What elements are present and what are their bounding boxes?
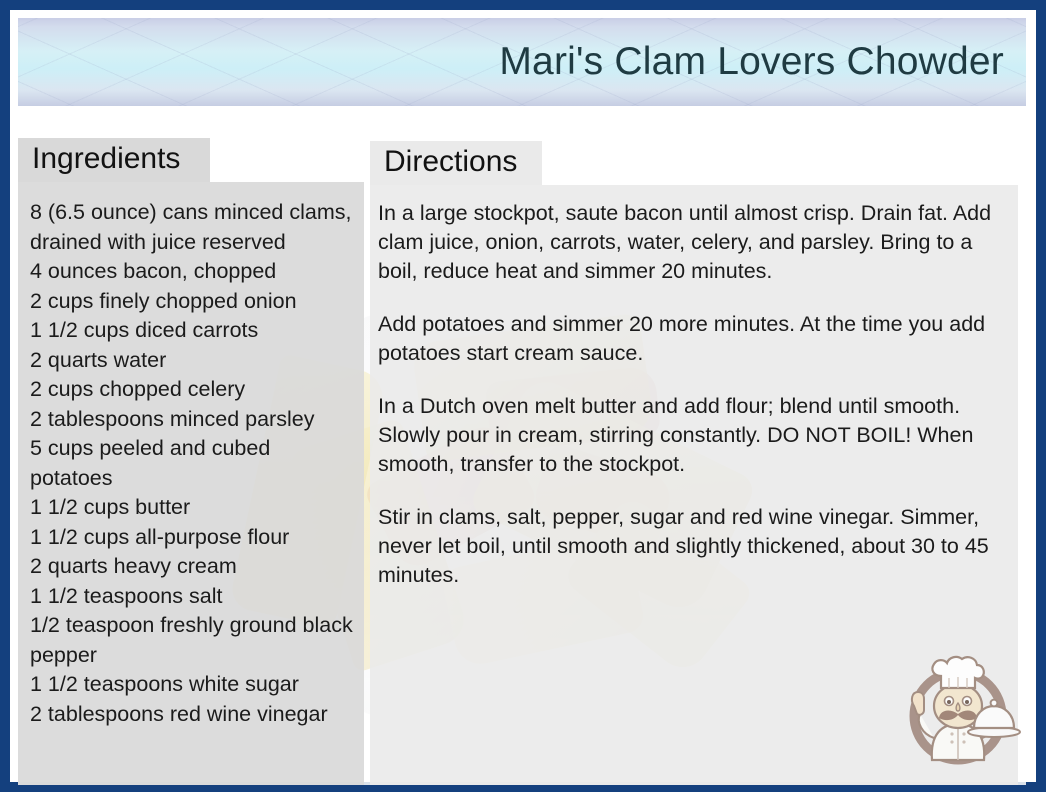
- list-item: 1/2 teaspoon freshly ground black pepper: [30, 611, 356, 670]
- list-item: 2 cups finely chopped onion: [30, 287, 356, 317]
- direction-step: Stir in clams, salt, pepper, sugar and r…: [378, 503, 1004, 590]
- list-item: 2 tablespoons red wine vinegar: [30, 700, 356, 730]
- list-item: 5 cups peeled and cubed potatoes: [30, 434, 356, 493]
- list-item: 1 1/2 teaspoons white sugar: [30, 670, 356, 700]
- recipe-card-inner: Mari's Clam Lovers Chowder Ingredients 8…: [10, 10, 1036, 782]
- direction-step: In a large stockpot, saute bacon until a…: [378, 199, 1004, 286]
- list-item: 1 1/2 cups all-purpose flour: [30, 523, 356, 553]
- list-item: 2 quarts water: [30, 346, 356, 376]
- list-item: 1 1/2 cups diced carrots: [30, 316, 356, 346]
- ingredients-heading: Ingredients: [18, 138, 210, 182]
- list-item: 2 tablespoons minced parsley: [30, 405, 356, 435]
- title-banner: Mari's Clam Lovers Chowder: [18, 18, 1026, 106]
- direction-step: In a Dutch oven melt butter and add flou…: [378, 392, 1004, 479]
- list-item: 8 (6.5 ounce) cans minced clams, drained…: [30, 198, 356, 257]
- list-item: 2 quarts heavy cream: [30, 552, 356, 582]
- ingredients-list: 8 (6.5 ounce) cans minced clams, drained…: [30, 198, 356, 729]
- direction-step: Add potatoes and simmer 20 more minutes.…: [378, 310, 1004, 368]
- list-item: 2 cups chopped celery: [30, 375, 356, 405]
- list-item: 1 1/2 cups butter: [30, 493, 356, 523]
- ingredients-panel: 8 (6.5 ounce) cans minced clams, drained…: [18, 182, 364, 785]
- recipe-card: Mari's Clam Lovers Chowder Ingredients 8…: [0, 0, 1046, 792]
- list-item: 1 1/2 teaspoons salt: [30, 582, 356, 612]
- directions-heading: Directions: [370, 141, 542, 185]
- list-item: 4 ounces bacon, chopped: [30, 257, 356, 287]
- page-title: Mari's Clam Lovers Chowder: [499, 40, 1004, 84]
- chef-mascot-logo: [894, 648, 1022, 776]
